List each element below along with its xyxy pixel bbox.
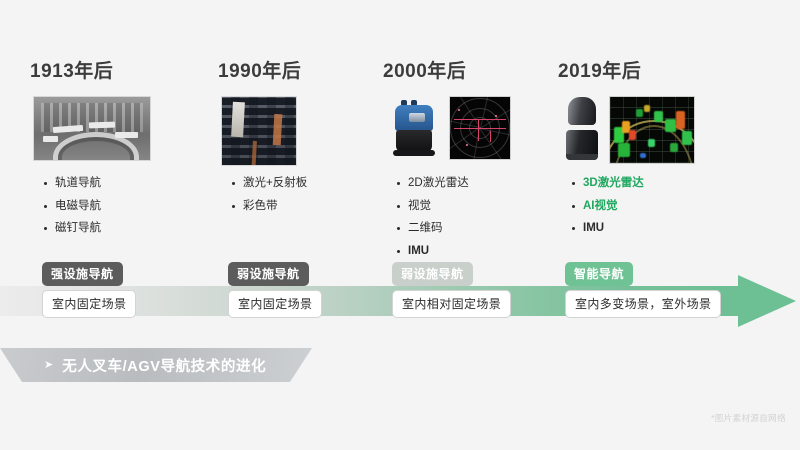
bottom-banner: ➤ 无人叉车/AGV导航技术的进化 — [0, 348, 312, 382]
grayscale-factory-photo — [34, 97, 150, 160]
list-item: 彩色带 — [232, 201, 307, 213]
bullet-dot-icon — [44, 182, 47, 185]
list-item: 轨道导航 — [44, 178, 101, 190]
scene-box: 室内固定场景 — [228, 290, 322, 318]
arrow-right-icon: ➤ — [44, 360, 53, 371]
list-item: IMU — [397, 246, 469, 258]
status-badge: 智能导航 — [565, 262, 633, 286]
bullet-list: 轨道导航 电磁导航 磁钉导航 — [44, 178, 101, 246]
stage-tag-1990: 弱设施导航 室内固定场景 — [228, 262, 322, 318]
stage-tag-row: 强设施导航 室内固定场景 弱设施导航 室内固定场景 弱设施导航 室内相对固定场景… — [0, 262, 800, 332]
bullet-dot-icon — [397, 227, 400, 230]
status-badge: 弱设施导航 — [228, 262, 309, 286]
radar-scan-display — [450, 97, 510, 159]
bullet-list: 2D激光雷达 视觉 二维码 IMU — [397, 178, 469, 268]
column-title: 1990年后 — [218, 56, 301, 83]
dark-warehouse-racking-photo — [222, 97, 296, 165]
list-item: 二维码 — [397, 223, 469, 235]
slide-canvas: 1913年后 轨道导航 电磁导航 磁钉导航 — [0, 0, 800, 450]
bullet-label: 2D激光雷达 — [408, 178, 469, 190]
scene-box: 室内相对固定场景 — [392, 290, 511, 318]
status-badge: 强设施导航 — [42, 262, 123, 286]
list-item: 视觉 — [397, 201, 469, 213]
column-media — [34, 97, 150, 160]
bullet-label: 磁钉导航 — [55, 223, 101, 235]
column-title: 2000年后 — [383, 56, 466, 83]
bullet-label: 激光+反射板 — [243, 178, 307, 190]
bullet-label: IMU — [408, 246, 429, 258]
bullet-dot-icon — [44, 227, 47, 230]
bullet-label: 轨道导航 — [55, 178, 101, 190]
list-item: 电磁导航 — [44, 201, 101, 213]
bullet-list: 激光+反射板 彩色带 — [232, 178, 307, 223]
3d-point-cloud-display — [610, 97, 694, 163]
scene-box: 室内固定场景 — [42, 290, 136, 318]
bullet-label: 彩色带 — [243, 201, 278, 213]
bullet-label: AI视觉 — [583, 201, 618, 213]
footnote: *图片素材源自网络 — [711, 412, 786, 424]
bullet-label: 二维码 — [408, 223, 443, 235]
stage-tag-2000: 弱设施导航 室内相对固定场景 — [392, 262, 511, 318]
bullet-label: IMU — [583, 223, 604, 235]
column-media — [562, 97, 694, 163]
bullet-dot-icon — [232, 205, 235, 208]
column-media — [387, 97, 510, 159]
bullet-list: 3D激光雷达 AI视觉 IMU — [572, 178, 644, 246]
column-title: 1913年后 — [30, 56, 113, 83]
scene-box: 室内多变场景，室外场景 — [565, 290, 721, 318]
bullet-label: 3D激光雷达 — [583, 178, 644, 190]
bullet-dot-icon — [572, 205, 575, 208]
bullet-dot-icon — [232, 182, 235, 185]
list-item: IMU — [572, 223, 644, 235]
list-item: 激光+反射板 — [232, 178, 307, 190]
bullet-dot-icon — [44, 205, 47, 208]
bullet-dot-icon — [397, 182, 400, 185]
timeline-columns: 1913年后 轨道导航 电磁导航 磁钉导航 — [0, 0, 800, 260]
bullet-label: 电磁导航 — [55, 201, 101, 213]
list-item: 磁钉导航 — [44, 223, 101, 235]
stage-tag-2019: 智能导航 室内多变场景，室外场景 — [565, 262, 721, 318]
list-item: 3D激光雷达 — [572, 178, 644, 190]
blue-2d-lidar-device — [387, 97, 442, 159]
bullet-dot-icon — [572, 227, 575, 230]
list-item: AI视觉 — [572, 201, 644, 213]
bullet-dot-icon — [397, 250, 400, 253]
3d-lidar-units — [562, 97, 602, 163]
column-title: 2019年后 — [558, 56, 641, 83]
column-media — [222, 97, 296, 165]
stage-tag-1913: 强设施导航 室内固定场景 — [42, 262, 136, 318]
list-item: 2D激光雷达 — [397, 178, 469, 190]
status-badge: 弱设施导航 — [392, 262, 473, 286]
bullet-dot-icon — [572, 182, 575, 185]
bullet-dot-icon — [397, 205, 400, 208]
banner-title: 无人叉车/AGV导航技术的进化 — [62, 355, 266, 376]
bullet-label: 视觉 — [408, 201, 431, 213]
